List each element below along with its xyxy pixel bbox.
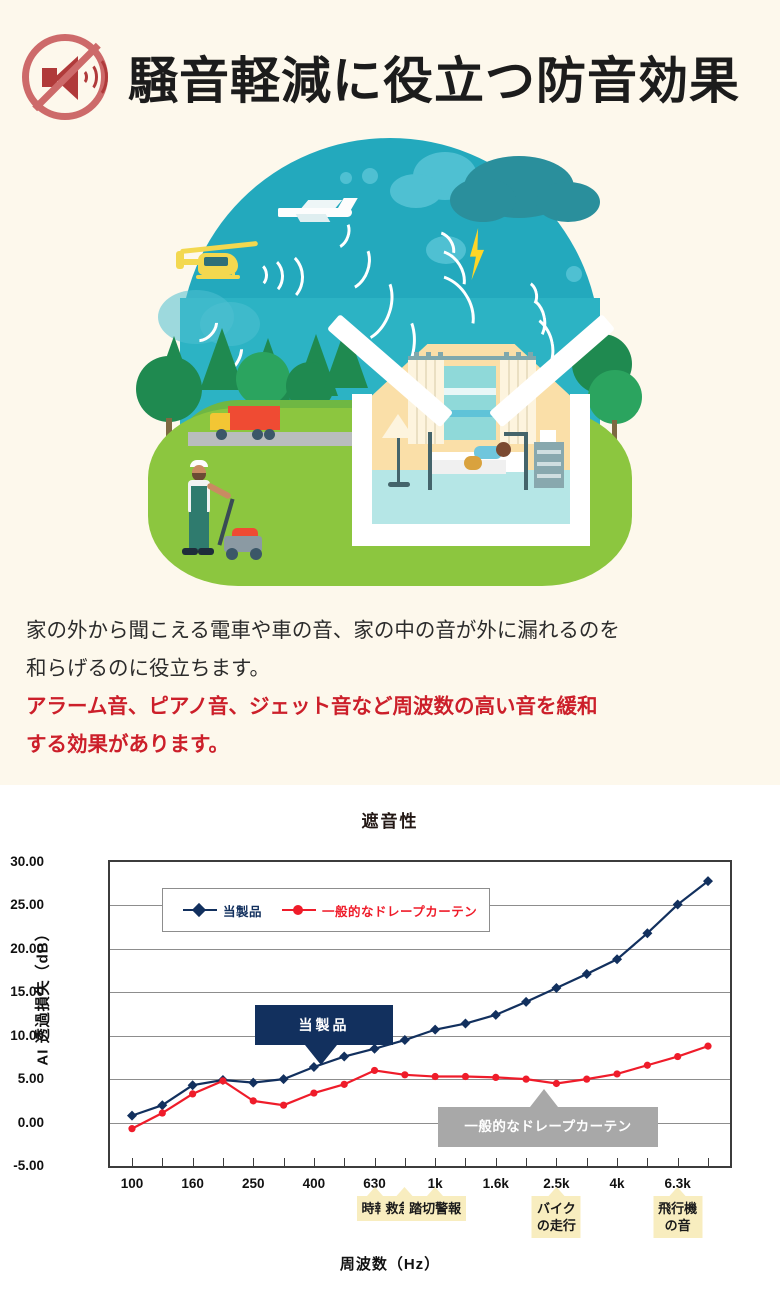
data-point-marker — [491, 1010, 501, 1020]
data-point-marker — [644, 1062, 651, 1069]
annotation-pointer-icon — [548, 1187, 564, 1196]
legend-item[interactable]: 一般的なドレープカーテン — [282, 901, 477, 920]
chart-legend: 当製品一般的なドレープカーテン — [162, 888, 490, 932]
data-point-marker — [341, 1081, 348, 1088]
house-cutaway-icon — [346, 314, 596, 546]
data-point-marker — [492, 1074, 499, 1081]
data-point-marker — [582, 969, 592, 979]
y-tick-label: 20.00 — [0, 941, 44, 956]
data-point-marker — [432, 1073, 439, 1080]
data-point-marker — [128, 1125, 135, 1132]
legend-label: 一般的なドレープカーテン — [322, 901, 477, 920]
data-point-marker — [189, 1090, 196, 1097]
data-point-marker — [159, 1109, 166, 1116]
nightstand-icon — [534, 442, 564, 488]
legend-item[interactable]: 当製品 — [183, 901, 262, 920]
data-point-marker — [462, 1073, 469, 1080]
data-point-marker — [127, 1111, 137, 1121]
data-point-marker — [219, 1077, 226, 1084]
callout-our-product: 当製品 — [255, 1005, 393, 1045]
cloud-icon — [566, 266, 582, 282]
legend-swatch — [282, 909, 316, 911]
hero-section: 騒音軽減に役立つ防音効果 — [0, 0, 780, 785]
data-point-marker — [553, 1080, 560, 1087]
data-point-marker — [280, 1102, 287, 1109]
legend-marker — [293, 905, 303, 915]
x-tick-label: 4k — [610, 1176, 625, 1191]
data-point-marker — [430, 1025, 440, 1035]
x-tick-label: 1.6k — [483, 1176, 509, 1191]
cloud-dot-icon — [362, 168, 378, 184]
highlight-line-2: する効果があります。 — [26, 726, 756, 764]
data-point-marker — [339, 1052, 349, 1062]
x-tick-label: 100 — [121, 1176, 144, 1191]
highlight-line-1: アラーム音、ピアノ音、ジェット音など周波数の高い音を緩和 — [26, 688, 756, 726]
annotation-pointer-icon — [367, 1187, 383, 1196]
data-point-marker — [551, 983, 561, 993]
data-point-marker — [248, 1078, 258, 1088]
legend-label: 当製品 — [223, 901, 262, 920]
storm-cloud-icon — [536, 182, 600, 222]
data-point-marker — [371, 1067, 378, 1074]
chart-section: 遮音性 AI 透過損失（dB） 周波数（Hz） -5.000.005.0010.… — [0, 785, 780, 1312]
annotation-badge: 踏切警報 — [404, 1196, 466, 1221]
chart-title: 遮音性 — [0, 807, 780, 832]
chart-plot-area: -5.000.005.0010.0015.0020.0025.0030.00 1… — [108, 860, 732, 1168]
data-point-marker — [370, 1044, 380, 1054]
callout-standard-curtain: 一般的なドレープカーテン — [438, 1107, 658, 1147]
cloud-dot-icon — [340, 172, 352, 184]
data-point-marker — [401, 1071, 408, 1078]
teddy-bear-icon — [464, 456, 482, 470]
data-point-marker — [704, 1043, 711, 1050]
data-point-marker — [521, 997, 531, 1007]
y-tick-label: 5.00 — [0, 1071, 44, 1086]
annotation-pointer-icon — [427, 1187, 443, 1196]
x-tick-label: 400 — [303, 1176, 326, 1191]
x-tick-label: 160 — [181, 1176, 204, 1191]
data-point-marker — [400, 1035, 410, 1045]
mute-speaker-icon — [16, 28, 114, 126]
data-point-marker — [460, 1019, 470, 1029]
lawnmower-man-icon — [180, 460, 266, 560]
y-tick-label: 10.00 — [0, 1028, 44, 1043]
data-point-marker — [250, 1097, 257, 1104]
y-tick-label: 15.00 — [0, 984, 44, 999]
page-header: 騒音軽減に役立つ防音効果 — [0, 22, 780, 132]
truck-icon — [210, 406, 284, 440]
storm-cloud-icon — [450, 178, 516, 222]
data-point-marker — [523, 1076, 530, 1083]
y-tick-label: 25.00 — [0, 897, 44, 912]
data-point-marker — [310, 1089, 317, 1096]
data-point-marker — [613, 1070, 620, 1077]
annotation-badge: バイク の走行 — [532, 1196, 581, 1238]
annotation-pointer-icon — [397, 1187, 413, 1196]
data-point-marker — [674, 1053, 681, 1060]
floor-lamp-icon — [382, 414, 414, 438]
y-tick-label: 0.00 — [0, 1115, 44, 1130]
description-line-2: 和らげるのに役立ちます。 — [26, 650, 756, 688]
window-icon — [444, 366, 496, 440]
y-tick-label: -5.00 — [0, 1158, 44, 1173]
house-noise-illustration — [128, 138, 652, 586]
cloud-icon — [390, 174, 442, 208]
description-line-1: 家の外から聞こえる電車や車の音、家の中の音が外に漏れるのを — [26, 612, 756, 650]
y-tick-label: 30.00 — [0, 854, 44, 869]
data-point-marker — [279, 1074, 289, 1084]
page-title: 騒音軽減に役立つ防音効果 — [128, 41, 740, 113]
annotation-badge: 飛行機 の音 — [653, 1196, 702, 1238]
x-tick-label: 250 — [242, 1176, 265, 1191]
data-point-marker — [583, 1076, 590, 1083]
annotation-pointer-icon — [670, 1187, 686, 1196]
legend-swatch — [183, 909, 217, 911]
x-axis-label: 周波数（Hz） — [0, 1253, 780, 1274]
description-text: 家の外から聞こえる電車や車の音、家の中の音が外に漏れるのを 和らげるのに役立ちま… — [26, 612, 756, 764]
legend-marker — [192, 903, 206, 917]
